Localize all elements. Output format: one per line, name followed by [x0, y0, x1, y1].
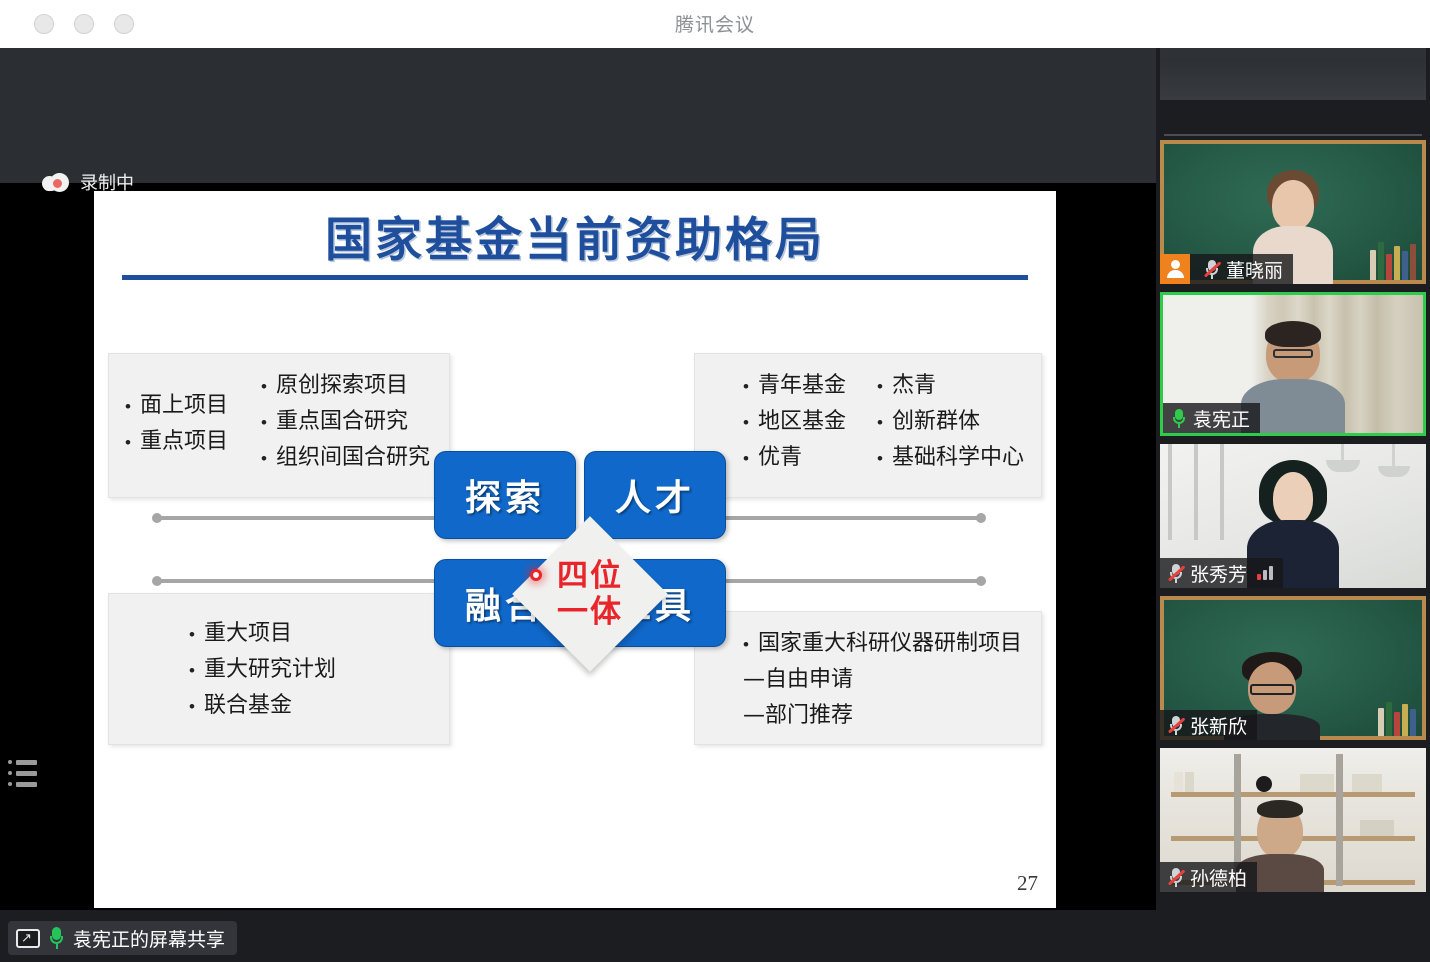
bullet-icon: •	[125, 398, 131, 415]
video-tile-4[interactable]: 孙德柏	[1160, 748, 1426, 892]
bullet-icon: •	[189, 698, 195, 715]
bullet-icon: •	[261, 414, 267, 431]
title-underline	[122, 275, 1028, 280]
list-item: • 重点项目	[125, 424, 228, 460]
laser-pointer-dot	[530, 569, 542, 581]
cloud-recording-icon	[42, 173, 70, 191]
screen-share-icon	[16, 929, 40, 948]
list-item-label: 国家重大科研仪器研制项目	[758, 626, 1022, 662]
bullet-icon: •	[743, 636, 749, 653]
list-item-label: 创新群体	[892, 404, 980, 440]
mic-muted-icon[interactable]	[1204, 259, 1220, 279]
bullet-icon: •	[877, 414, 883, 431]
list-item: • 基础科学中心	[877, 440, 1024, 476]
meeting-window: 腾讯会议 录制中 国家基金当前资助格局	[0, 0, 1430, 962]
bookshelf	[1378, 702, 1416, 736]
participant-name-0: 董晓丽	[1226, 256, 1283, 283]
recording-label: 录制中	[80, 169, 134, 195]
participant-nameplate-0: 董晓丽	[1160, 254, 1293, 284]
participant-name-2: 张秀芳	[1190, 560, 1247, 587]
bullet-icon: •	[261, 450, 267, 467]
card-top-right-col1: • 青年基金 • 地区基金 • 优青	[743, 368, 846, 476]
list-item: • 杰青	[877, 368, 1024, 404]
quad-explore-label: 探索	[435, 452, 575, 538]
video-tile-1[interactable]: 袁宪正	[1160, 292, 1426, 436]
list-item-label: 优青	[758, 440, 802, 476]
list-item: • 面上项目	[125, 388, 228, 424]
sub-item-label: —部门推荐	[743, 698, 1022, 734]
participant-name-4: 孙德柏	[1190, 864, 1247, 891]
shared-screen-stage: 录制中 国家基金当前资助格局 • 面上项目	[0, 48, 1156, 910]
list-item-label: 重点项目	[140, 424, 228, 460]
bullet-icon: •	[743, 378, 749, 395]
bullet-icon: •	[189, 662, 195, 679]
glasses-icon	[1273, 349, 1313, 358]
list-item: • 组织间国合研究	[261, 440, 430, 476]
center-diamond	[512, 516, 668, 672]
card-bottom-left-col1: • 重大项目 • 重大研究计划 • 联合基金	[189, 616, 336, 724]
list-item-label: 联合基金	[204, 688, 292, 724]
connector-line-top-left	[156, 516, 444, 520]
participant-nameplate-2: 张秀芳	[1160, 558, 1283, 588]
connector-line-bottom-left	[156, 579, 444, 583]
slide-title: 国家基金当前资助格局	[94, 201, 1056, 270]
list-item: • 地区基金	[743, 404, 846, 440]
participant-strip[interactable]: 董晓丽 袁宪正	[1156, 48, 1430, 910]
list-item-label: 重大项目	[204, 616, 292, 652]
list-item-label: 基础科学中心	[892, 440, 1024, 476]
list-item: • 优青	[743, 440, 846, 476]
list-item: • 重点国合研究	[261, 404, 430, 440]
glasses-icon	[1250, 684, 1294, 695]
bullet-icon: •	[877, 378, 883, 395]
list-item: • 青年基金	[743, 368, 846, 404]
list-item: • 创新群体	[877, 404, 1024, 440]
bullet-icon: •	[261, 378, 267, 395]
bullet-icon: •	[125, 434, 131, 451]
avatar-head	[1272, 180, 1314, 230]
bullet-icon: •	[877, 450, 883, 467]
slide-page-number: 27	[1017, 871, 1038, 896]
bullet-icon: •	[743, 414, 749, 431]
window-title: 腾讯会议	[0, 10, 1430, 37]
list-item-label: 杰青	[892, 368, 936, 404]
list-menu-icon[interactable]	[8, 753, 42, 793]
network-signal-icon	[1257, 566, 1273, 580]
tile-divider	[1164, 134, 1422, 136]
participant-name-1: 袁宪正	[1193, 405, 1250, 432]
list-item-label: 青年基金	[758, 368, 846, 404]
list-item-label: 原创探索项目	[276, 368, 408, 404]
sub-item-label: —自由申请	[743, 662, 1022, 698]
list-item: • 重大研究计划	[189, 652, 336, 688]
mic-on-icon[interactable]	[1171, 408, 1187, 428]
card-bottom-right: • 国家重大科研仪器研制项目 —自由申请 —部门推荐	[694, 611, 1042, 745]
list-item-label: 组织间国合研究	[276, 440, 430, 476]
card-top-left-col1: • 面上项目 • 重点项目	[125, 388, 228, 460]
card-bottom-right-col1: • 国家重大科研仪器研制项目 —自由申请 —部门推荐	[743, 626, 1022, 734]
avatar-hair	[1257, 800, 1303, 818]
list-item: • 联合基金	[189, 688, 336, 724]
card-top-right-col2: • 杰青 • 创新群体 • 基础科学中心	[877, 368, 1024, 476]
mic-muted-icon[interactable]	[1168, 867, 1184, 887]
window-titlebar: 腾讯会议	[0, 0, 1430, 48]
connector-line-top-right	[704, 516, 982, 520]
connector-line-bottom-right	[704, 579, 982, 583]
video-tile-2[interactable]: 张秀芳	[1160, 444, 1426, 588]
bullet-icon: •	[189, 626, 195, 643]
list-item: • 国家重大科研仪器研制项目	[743, 626, 1022, 662]
quad-talent-label: 人才	[585, 452, 725, 538]
video-tile-3[interactable]: 张新欣	[1160, 596, 1426, 740]
screen-share-indicator[interactable]: 袁宪正的屏幕共享	[8, 921, 237, 955]
screen-share-label: 袁宪正的屏幕共享	[73, 925, 225, 952]
list-item: • 原创探索项目	[261, 368, 430, 404]
mic-muted-icon[interactable]	[1168, 563, 1184, 583]
list-item-label: 重大研究计划	[204, 652, 336, 688]
card-top-left-col2: • 原创探索项目 • 重点国合研究 • 组织间国合研究	[261, 368, 430, 476]
mic-muted-icon[interactable]	[1168, 715, 1184, 735]
video-tile-0[interactable]: 董晓丽	[1160, 140, 1426, 284]
video-tile-partial-top[interactable]	[1160, 48, 1426, 100]
quad-explore: 探索	[434, 451, 576, 539]
list-item-label: 面上项目	[140, 388, 228, 424]
list-item-label: 地区基金	[758, 404, 846, 440]
list-item: • 重大项目	[189, 616, 336, 652]
participant-nameplate-4: 孙德柏	[1160, 862, 1257, 892]
video-feed	[1160, 48, 1426, 100]
card-top-right: • 青年基金 • 地区基金 • 优青 • 杰青	[694, 353, 1042, 498]
avatar-head	[1273, 472, 1313, 524]
participant-name-3: 张新欣	[1190, 712, 1247, 739]
quad-talent: 人才	[584, 451, 726, 539]
avatar-hair	[1265, 321, 1321, 347]
card-bottom-left: • 重大项目 • 重大研究计划 • 联合基金	[108, 593, 450, 745]
bookshelf	[1370, 242, 1416, 280]
bullet-icon: •	[743, 450, 749, 467]
host-badge-icon	[1160, 254, 1190, 284]
list-item-label: 重点国合研究	[276, 404, 408, 440]
card-top-left: • 面上项目 • 重点项目 • 原创探索项目 • 重点国合研究	[108, 353, 450, 498]
recording-indicator: 录制中	[42, 169, 134, 195]
presentation-slide: 国家基金当前资助格局 • 面上项目 • 重点项目	[94, 191, 1056, 908]
mic-on-icon[interactable]	[50, 927, 63, 949]
participant-nameplate-1: 袁宪正	[1163, 403, 1260, 433]
participant-nameplate-3: 张新欣	[1160, 710, 1257, 740]
